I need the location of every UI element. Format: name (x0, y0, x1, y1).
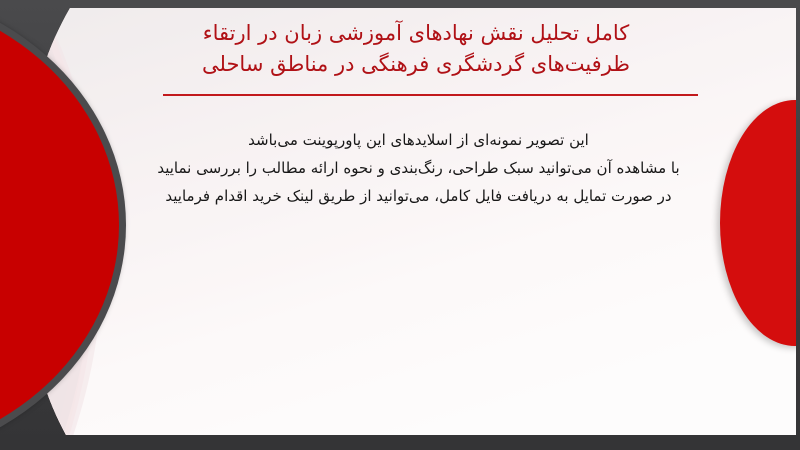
slide-body: این تصویر نمونه‌ای از اسلایدهای این پاور… (146, 126, 691, 210)
title-line-2: ظرفیت‌های گردشگری فرهنگی در مناطق ساحلی (136, 49, 696, 80)
slide-title: کامل تحلیل نقش نهادهای آموزشی زبان در ار… (136, 18, 696, 80)
presentation-slide: کامل تحلیل نقش نهادهای آموزشی زبان در ار… (0, 0, 800, 450)
slide-page-area: کامل تحلیل نقش نهادهای آموزشی زبان در ار… (26, 8, 796, 435)
body-line-1: این تصویر نمونه‌ای از اسلایدهای این پاور… (146, 126, 691, 154)
title-underline (163, 94, 698, 96)
body-line-3: در صورت تمایل به دریافت فایل کامل، می‌تو… (146, 182, 691, 210)
title-line-1: کامل تحلیل نقش نهادهای آموزشی زبان در ار… (136, 18, 696, 49)
body-line-2: با مشاهده آن می‌توانید سبک طراحی، رنگ‌بن… (146, 154, 691, 182)
